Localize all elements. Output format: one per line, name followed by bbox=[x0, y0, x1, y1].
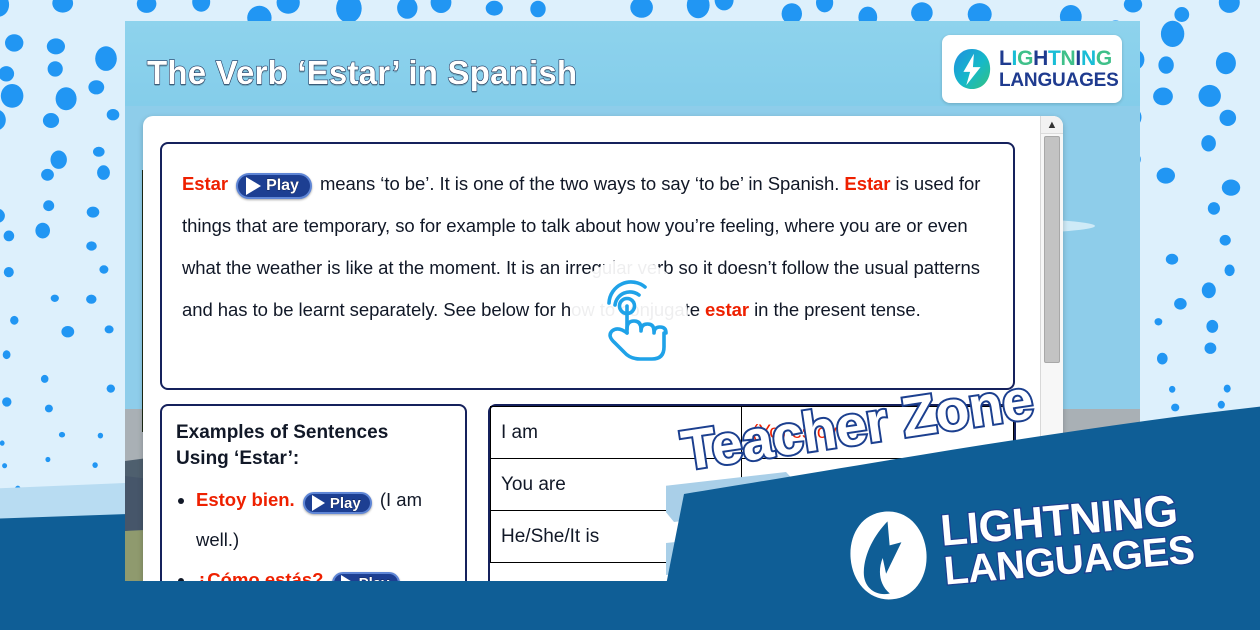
play-triangle-icon bbox=[246, 177, 261, 195]
keyword-estar-2: Estar bbox=[844, 173, 890, 194]
list-item: Estoy bien. Play (I am well.) bbox=[196, 480, 465, 560]
tap-click-cursor-icon bbox=[570, 259, 688, 377]
examples-heading: Examples of Sentences Using ‘Estar’: bbox=[162, 406, 465, 472]
teacher-zone-wordmark: LIGHTNING LANGUAGES bbox=[939, 488, 1196, 592]
play-button-label: Play bbox=[266, 178, 299, 194]
teacher-zone-banner: Teacher Zone LIGHTNING LANGUAGES bbox=[666, 376, 1260, 630]
intro-text-part-3: in the present tense. bbox=[749, 299, 921, 320]
example-spanish-1: Estoy bien. bbox=[196, 489, 295, 510]
list-item: ¿Cómo estás? Play bbox=[196, 560, 465, 581]
keyword-estar-3: estar bbox=[705, 299, 749, 320]
scrollbar-thumb[interactable] bbox=[1044, 136, 1060, 363]
example-spanish-2: ¿Cómo estás? bbox=[196, 569, 323, 581]
play-button-intro[interactable]: Play bbox=[236, 173, 312, 199]
play-button-label: Play bbox=[330, 496, 361, 511]
lightning-bolt-circle-icon bbox=[952, 48, 992, 90]
intro-text-part-1: means ‘to be’. It is one of the two ways… bbox=[320, 173, 844, 194]
play-button-example-2[interactable]: Play bbox=[332, 572, 401, 581]
scroll-up-arrow-icon[interactable]: ▲ bbox=[1041, 116, 1063, 134]
brand-word-lightning: LIGHTNING bbox=[999, 48, 1119, 69]
screenshot-canvas: The Verb ‘Estar’ in Spanish LIGHTNING LA… bbox=[0, 0, 1260, 630]
examples-heading-line-1: Examples of Sentences bbox=[176, 420, 451, 446]
page-title: The Verb ‘Estar’ in Spanish bbox=[147, 54, 577, 92]
play-triangle-icon bbox=[312, 495, 325, 511]
keyword-estar-1: Estar bbox=[182, 173, 228, 194]
brand-word-languages: LANGUAGES bbox=[999, 71, 1119, 90]
lightning-bolt-circle-icon bbox=[842, 504, 934, 607]
play-triangle-icon bbox=[341, 575, 354, 581]
examples-list: Estoy bien. Play (I am well.) ¿Cómo está… bbox=[196, 480, 465, 581]
brand-logo-chip: LIGHTNING LANGUAGES bbox=[942, 35, 1122, 103]
examples-panel: Examples of Sentences Using ‘Estar’: Est… bbox=[160, 404, 467, 581]
play-button-label: Play bbox=[359, 576, 390, 582]
play-button-example-1[interactable]: Play bbox=[303, 492, 372, 514]
examples-heading-line-2: Using ‘Estar’: bbox=[176, 446, 451, 472]
brand-logo-wordmark: LIGHTNING LANGUAGES bbox=[999, 48, 1119, 90]
